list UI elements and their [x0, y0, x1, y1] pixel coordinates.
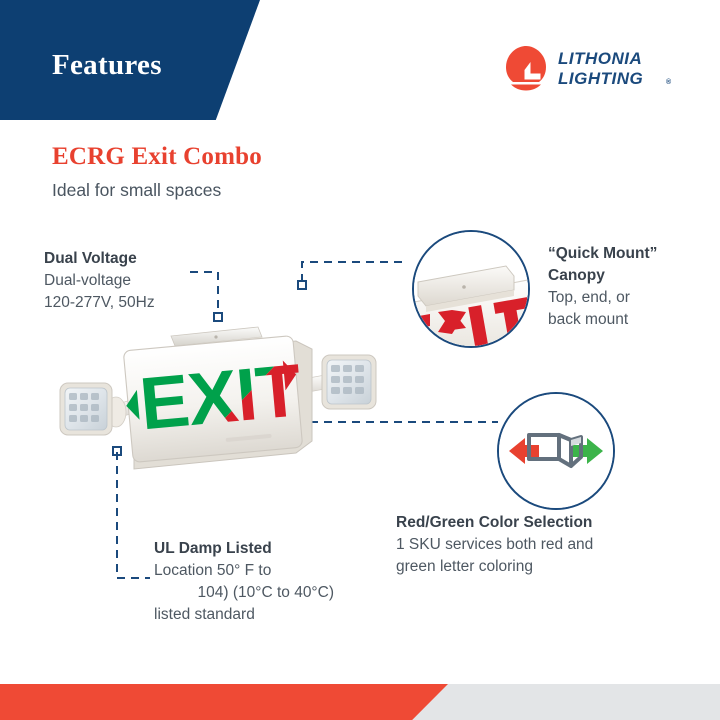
connector-endpoint-quick-mount — [298, 281, 306, 289]
callout-quick-mount-heading-line-2: Canopy — [548, 265, 698, 287]
callout-ul-damp-heading: UL Damp Listed — [154, 538, 334, 560]
callout-ul-damp-listed: UL Damp Listed Location 50° F to 104) (1… — [154, 538, 334, 626]
callout-color-selection: Red/Green Color Selection 1 SKU services… — [396, 512, 636, 578]
footer-red-band — [0, 684, 448, 720]
callout-dual-voltage: Dual Voltage Dual-voltage 120-277V, 50Hz — [44, 248, 229, 314]
callout-ul-damp-line-1: Location 50° F to — [154, 560, 334, 582]
logo-line-2: LIGHTING — [558, 69, 643, 88]
logo-line-1: LITHONIA — [558, 49, 642, 68]
left-lamp-head — [60, 383, 112, 435]
callout-ul-damp-line-3: listed standard — [154, 604, 334, 626]
callout-quick-mount-heading-line-1: “Quick Mount” — [548, 243, 698, 265]
brand-logo: LITHONIA LIGHTING ® — [502, 44, 674, 92]
callout-quick-mount-line-1: Top, end, or — [548, 287, 698, 309]
circle-icon-color-selection — [497, 392, 615, 510]
connector-quick-mount — [302, 262, 408, 282]
callout-color-selection-line-2: green letter coloring — [396, 556, 636, 578]
logo-registered-mark: ® — [666, 78, 672, 86]
callout-color-selection-heading: Red/Green Color Selection — [396, 512, 636, 534]
callout-color-selection-line-1: 1 SKU services both red and — [396, 534, 636, 556]
circle-photo-quick-mount — [412, 230, 530, 348]
lithonia-mark-icon — [502, 44, 550, 92]
logo-wordmark: LITHONIA LIGHTING ® — [558, 46, 676, 90]
exit-lettering: EXIT EXIT — [122, 348, 304, 447]
callout-dual-voltage-line-1: Dual-voltage — [44, 270, 229, 292]
product-photo-exit-combo: EXIT EXIT — [40, 305, 390, 500]
page-title: Features — [52, 49, 162, 82]
callout-dual-voltage-line-2: 120-277V, 50Hz — [44, 292, 229, 314]
callout-quick-mount-line-2: back mount — [548, 309, 698, 331]
callout-quick-mount: “Quick Mount” Canopy Top, end, or back m… — [548, 243, 698, 331]
callout-ul-damp-line-2: 104) (10°C to 40°C) — [154, 582, 334, 604]
right-lamp-head — [322, 355, 376, 409]
feature-infographic-page: Features LITHONIA LIGHTING ® ECRG Exit C… — [0, 0, 720, 720]
callout-dual-voltage-heading: Dual Voltage — [44, 248, 229, 270]
product-title: ECRG Exit Combo — [52, 143, 262, 171]
product-subtitle: Ideal for small spaces — [52, 180, 221, 201]
